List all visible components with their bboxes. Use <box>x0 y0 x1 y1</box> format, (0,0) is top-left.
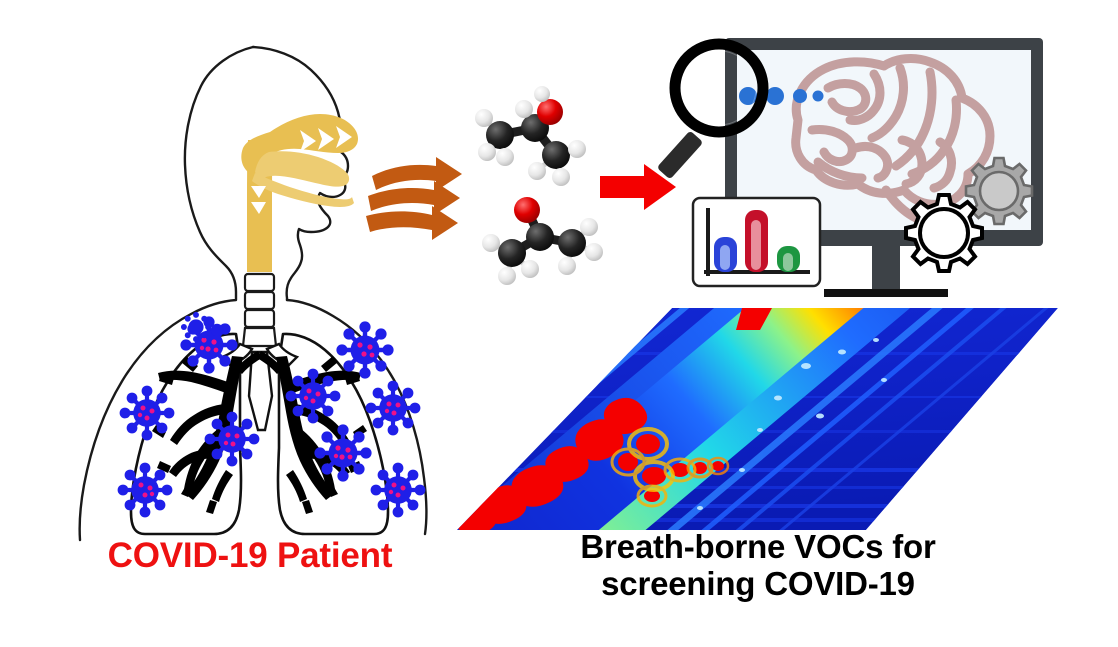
gear-outline[interactable] <box>906 195 982 271</box>
bar-item <box>745 210 768 272</box>
graphical-abstract: COVID-19 Patient Breath-borne VOCs for s… <box>0 0 1118 647</box>
bar-item <box>714 237 737 272</box>
bar-item <box>777 246 800 272</box>
caption-breath-vocs: Breath-borne VOCs for screening COVID-19 <box>498 529 1018 603</box>
gear-filled[interactable] <box>966 158 1032 224</box>
caption-covid-patient: COVID-19 Patient <box>60 536 440 575</box>
bar-chart-inset <box>693 198 820 286</box>
